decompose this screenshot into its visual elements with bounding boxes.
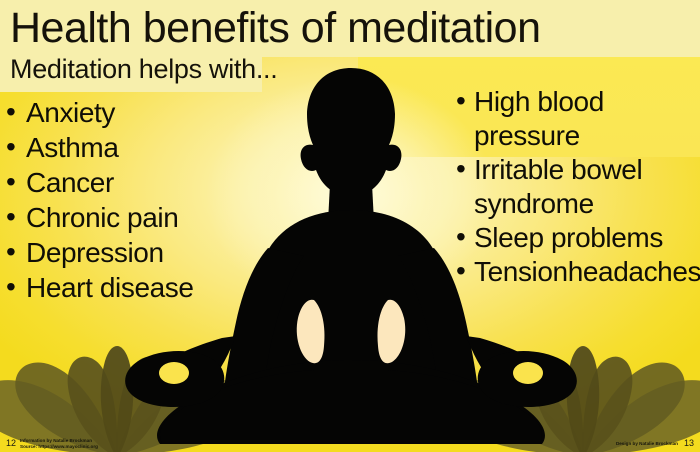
list-item: Irritable bowel syndrome: [456, 153, 700, 221]
mudra-circle-right: [513, 362, 543, 384]
slide-canvas: Health benefits of meditation Meditation…: [0, 0, 700, 452]
list-item: Sleep problems: [456, 221, 700, 255]
list-item: Anxiety: [6, 95, 256, 130]
page-subtitle: Meditation helps with...: [10, 54, 277, 84]
left-benefits-list: Anxiety Asthma Cancer Chronic pain Depre…: [6, 95, 256, 305]
list-item: Heart disease: [6, 270, 256, 305]
right-benefits-list: High blood pressure Irritable bowel synd…: [456, 85, 700, 289]
credit-design-line: Design by Natalie Brockman: [616, 441, 678, 446]
credit-block-right: Design by Natalie Brockman 13: [616, 438, 694, 449]
credit-lines: Information by Natalie Brockman Source: …: [20, 438, 98, 449]
page-number-left: 12: [6, 438, 16, 449]
credit-source-line[interactable]: Source: https://www.mayoclinic.org: [20, 444, 98, 449]
list-item: Asthma: [6, 130, 256, 165]
page-number-right: 13: [684, 438, 694, 449]
list-item: Depression: [6, 235, 256, 270]
credit-block-left: 12 Information by Natalie Brockman Sourc…: [6, 438, 98, 449]
mudra-circle-left: [159, 362, 189, 384]
list-item: Cancer: [6, 165, 256, 200]
list-item: Chronic pain: [6, 200, 256, 235]
list-item: High blood pressure: [456, 85, 700, 153]
page-title: Health benefits of meditation: [10, 6, 541, 50]
list-item: Tensionheadaches: [456, 255, 700, 289]
